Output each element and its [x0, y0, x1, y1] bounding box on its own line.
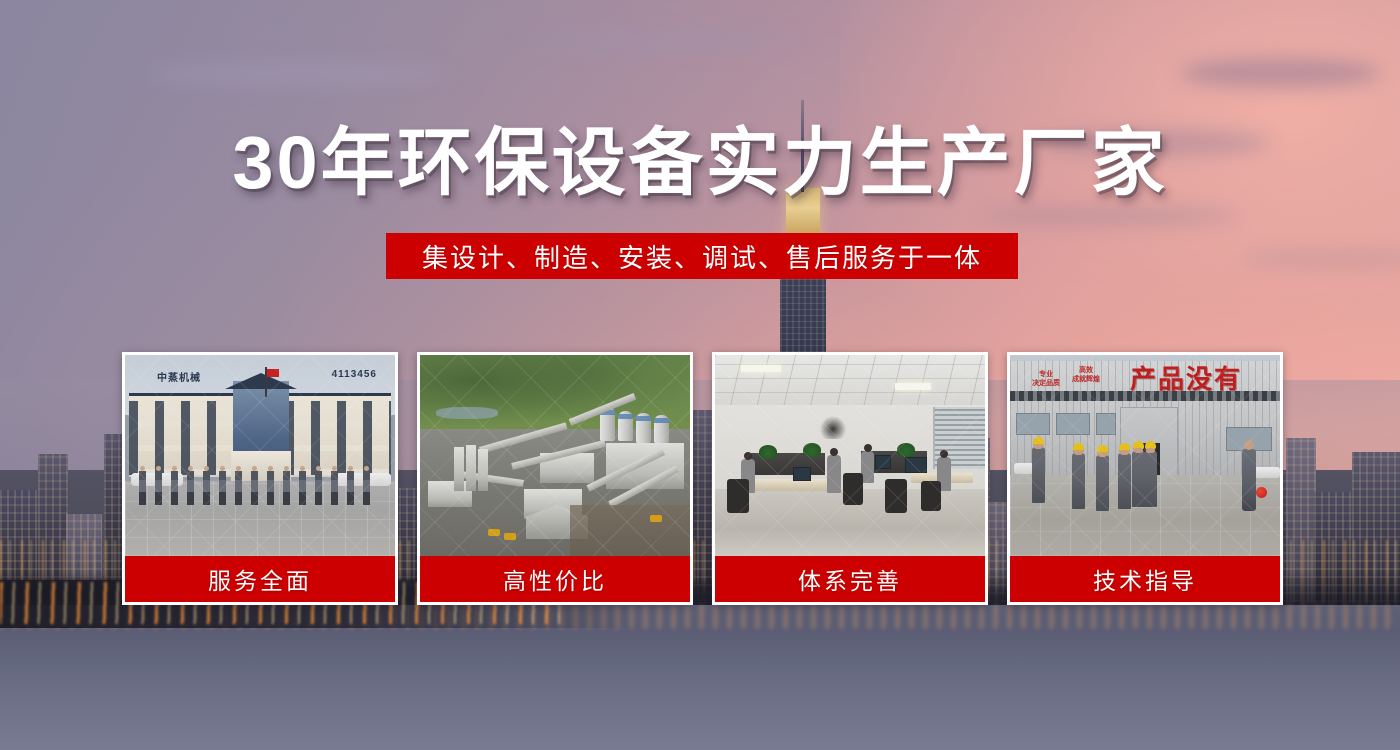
card-caption-bar: 技术指导	[1010, 556, 1280, 602]
feature-card[interactable]: 体系完善	[712, 352, 988, 605]
feature-card[interactable]: 中蒸机械 4113456 服务全面	[122, 352, 398, 605]
card-caption-text: 技术指导	[1093, 562, 1197, 596]
cloud-2	[1180, 58, 1380, 88]
card-caption-text: 服务全面	[208, 562, 312, 596]
cloud-4	[150, 62, 450, 86]
card-caption-bar: 高性价比	[420, 556, 690, 602]
card-caption-text: 高性价比	[503, 562, 607, 596]
aerial-industrial-plant-photo	[420, 355, 690, 556]
office-interior-staff-photo	[715, 355, 985, 556]
feature-card-row: 中蒸机械 4113456 服务全面	[0, 352, 1400, 607]
cloud-5	[520, 30, 800, 52]
hero-banner: 30年环保设备实力生产厂家 集设计、制造、安装、调试、售后服务于一体 中蒸机械 …	[0, 0, 1400, 750]
feature-card[interactable]: 产品没有 专业决定品质 高效成就辉煌	[1007, 352, 1283, 605]
subtitle-bar: 集设计、制造、安装、调试、售后服务于一体	[386, 233, 1018, 279]
feature-card[interactable]: 高性价比	[417, 352, 693, 605]
card-caption-text: 体系完善	[798, 562, 902, 596]
workshop-workers-briefing-photo: 产品没有 专业决定品质 高效成就辉煌	[1010, 355, 1280, 556]
subtitle-text: 集设计、制造、安装、调试、售后服务于一体	[422, 238, 982, 275]
office-building-staff-photo: 中蒸机械 4113456	[125, 355, 395, 556]
cloud-3	[980, 206, 1240, 226]
card-caption-bar: 服务全面	[125, 556, 395, 602]
card-caption-bar: 体系完善	[715, 556, 985, 602]
page-title: 30年环保设备实力生产厂家	[0, 126, 1400, 200]
